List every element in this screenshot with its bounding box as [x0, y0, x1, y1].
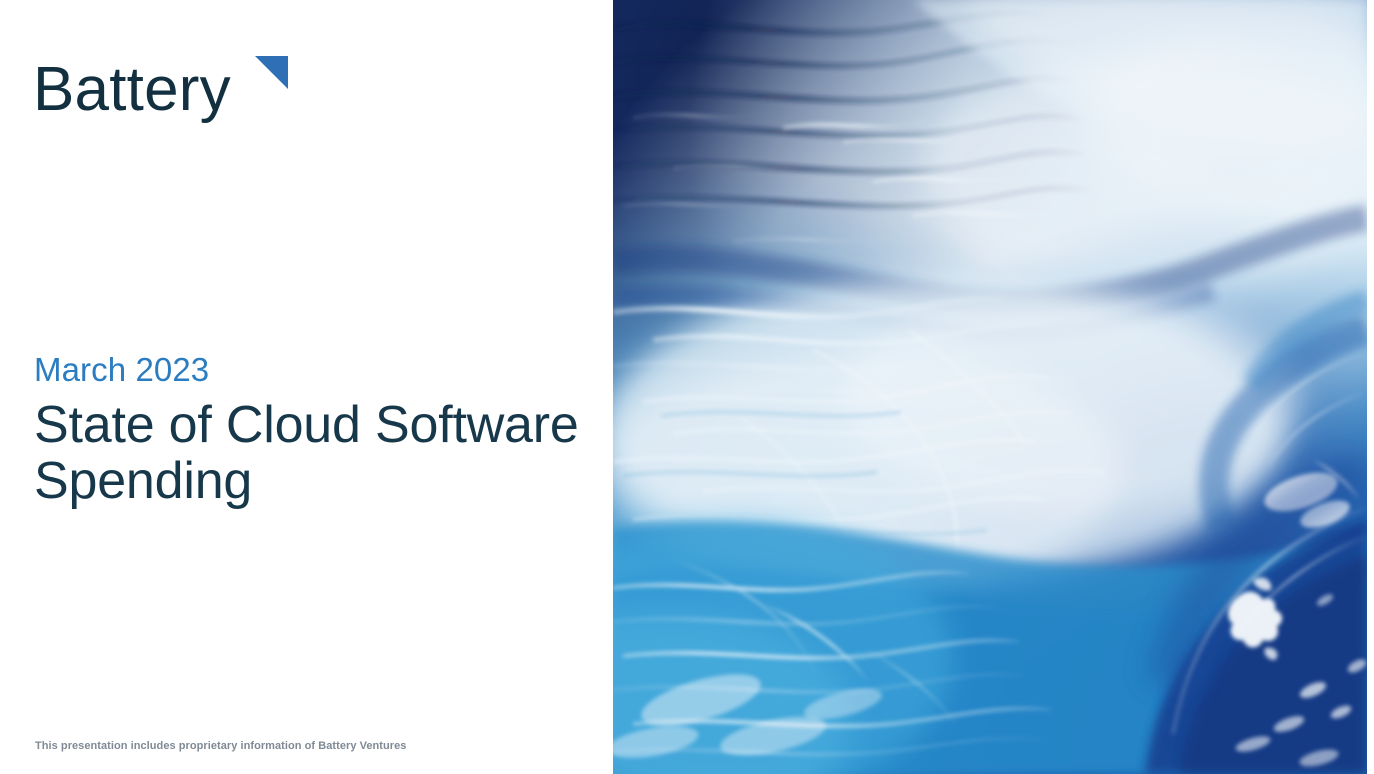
- ocean-waves-illustration: [613, 0, 1367, 774]
- battery-triangle-mark-icon: [255, 56, 288, 89]
- page-title: State of Cloud Software Spending: [34, 397, 604, 509]
- logo-wordmark: Battery: [33, 52, 231, 128]
- proprietary-notice: This presentation includes proprietary i…: [35, 740, 406, 752]
- hero-image: [613, 0, 1367, 774]
- right-white-gutter: [1367, 0, 1374, 774]
- left-content-panel: Battery March 2023 State of Cloud Softwa…: [0, 0, 613, 774]
- battery-ventures-logo: Battery: [33, 52, 293, 128]
- title-slide: Battery March 2023 State of Cloud Softwa…: [0, 0, 1374, 774]
- title-block: March 2023 State of Cloud Software Spend…: [34, 349, 604, 509]
- presentation-date: March 2023: [34, 349, 604, 391]
